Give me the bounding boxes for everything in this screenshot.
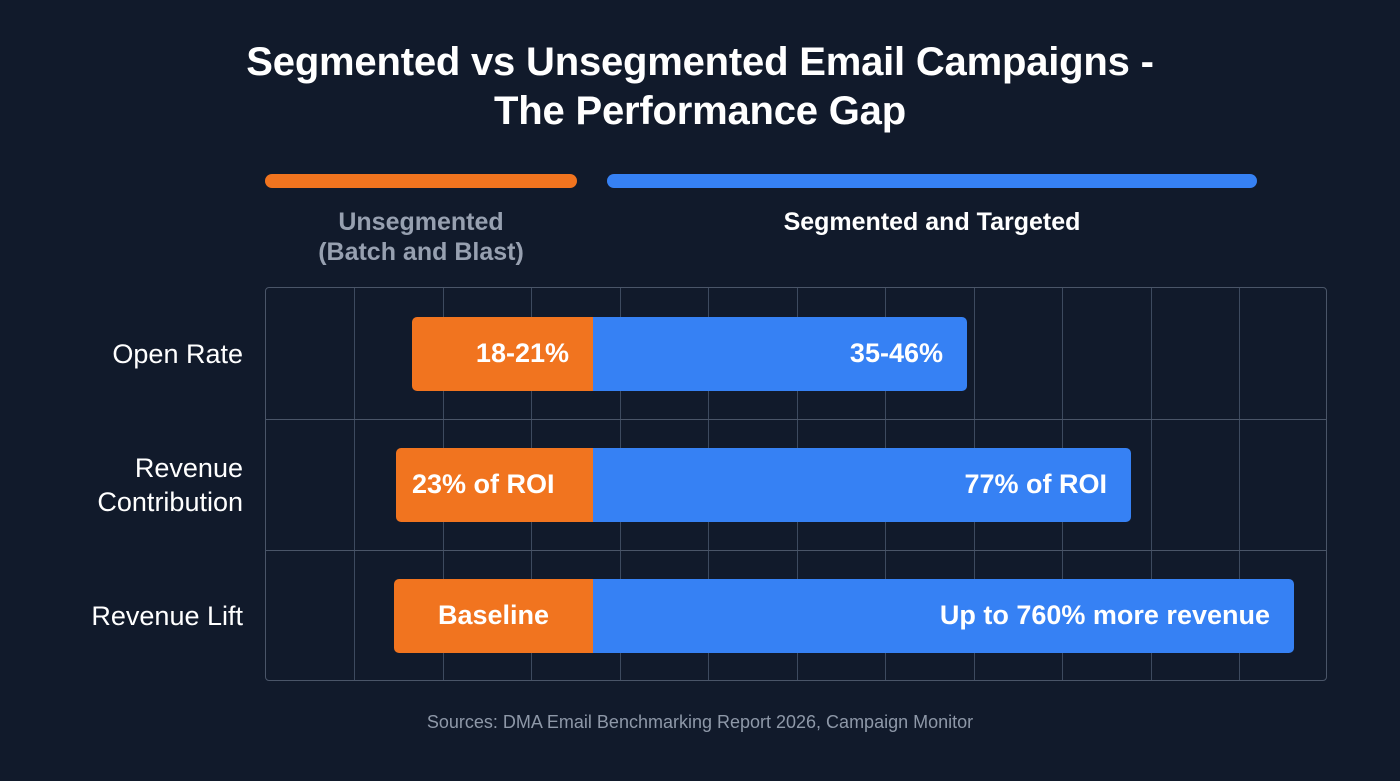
bar-unsegmented-open-rate: 18-21% [412,317,593,391]
row-label-revenue-contribution: Revenue Contribution [0,451,243,519]
page-title-line-2: The Performance Gap [0,87,1400,136]
sources-footnote: Sources: DMA Email Benchmarking Report 2… [0,710,1400,734]
legend-item-segmented: Segmented and Targeted [607,174,1257,237]
row-label-revenue-lift: Revenue Lift [0,599,243,633]
bar-segmented-open-rate: 35-46% [593,317,967,391]
chart-row-revenue-contribution: Revenue Contribution 23% of ROI 77% of R… [266,419,1326,550]
legend-swatch-unsegmented [265,174,577,188]
bar-unsegmented-revenue-contribution: 23% of ROI [396,448,593,522]
chart-row-revenue-lift: Revenue Lift Baseline Up to 760% more re… [266,550,1326,681]
bar-value-segmented-revenue-contribution: 77% of ROI [593,469,1131,500]
bar-unsegmented-revenue-lift: Baseline [394,579,593,653]
chart-legend: Unsegmented (Batch and Blast) Segmented … [265,174,1327,274]
chart-row-open-rate: Open Rate 18-21% 35-46% [266,288,1326,419]
legend-swatch-segmented [607,174,1257,188]
bar-value-segmented-open-rate: 35-46% [593,338,967,369]
bar-segmented-revenue-contribution: 77% of ROI [593,448,1131,522]
page-title-line-1: Segmented vs Unsegmented Email Campaigns… [0,38,1400,87]
bar-chart-plot-area: Open Rate 18-21% 35-46% Revenue Contribu… [265,287,1327,681]
row-label-open-rate: Open Rate [0,337,243,371]
bar-value-unsegmented-open-rate: 18-21% [412,338,593,369]
bar-segmented-revenue-lift: Up to 760% more revenue [593,579,1294,653]
bar-value-unsegmented-revenue-contribution: 23% of ROI [396,469,593,500]
page-title: Segmented vs Unsegmented Email Campaigns… [0,38,1400,136]
legend-label-segmented: Segmented and Targeted [607,207,1257,237]
legend-item-unsegmented: Unsegmented (Batch and Blast) [265,174,577,267]
bar-value-segmented-revenue-lift: Up to 760% more revenue [593,600,1294,631]
legend-label-unsegmented: Unsegmented (Batch and Blast) [265,207,577,267]
bar-value-unsegmented-revenue-lift: Baseline [394,600,593,631]
